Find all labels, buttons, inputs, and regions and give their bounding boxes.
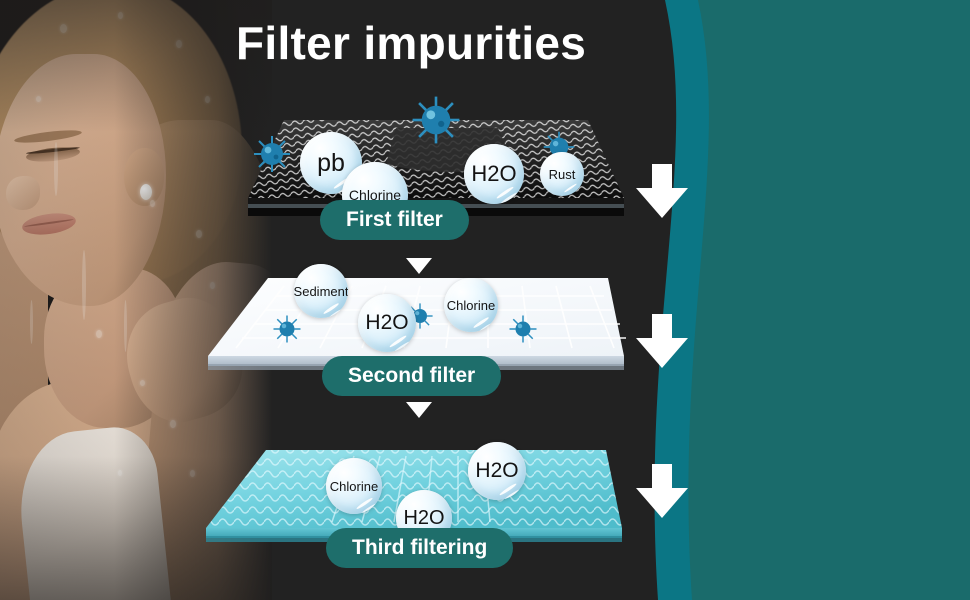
stage-badge-first[interactable]: First filter — [320, 200, 469, 240]
impurity-label: Rust — [549, 167, 576, 182]
filter-stage-third: Chlorine H2O H2O Third filtering — [204, 444, 624, 574]
germ-icon — [272, 314, 302, 344]
bubble-highlight-icon — [473, 316, 490, 328]
impurity-label: Chlorine — [447, 298, 495, 313]
germ-icon — [508, 314, 538, 344]
impurity-bubble: H2O — [358, 294, 416, 352]
impurity-bubble: Chlorine — [444, 278, 498, 332]
bubble-highlight-icon — [496, 186, 515, 200]
germ-icon — [252, 134, 292, 174]
impurity-bubble: H2O — [464, 144, 524, 204]
arrow-down-icon — [634, 464, 690, 518]
impurity-label: Sediment — [294, 284, 348, 299]
arrow-down-icon — [634, 164, 690, 218]
impurity-label: H2O — [475, 459, 518, 483]
impurity-label: pb — [317, 149, 345, 178]
bubble-highlight-icon — [389, 335, 407, 348]
filter-stage-second: Sediment H2O Chlorine Second filter — [206, 272, 626, 402]
impurity-label: H2O — [365, 311, 408, 335]
impurity-label: Chlorine — [330, 479, 378, 494]
bubble-highlight-icon — [564, 183, 578, 193]
triangle-down-icon — [406, 402, 432, 418]
infographic-canvas: Filter impurities — [0, 0, 970, 600]
stage-badge-third[interactable]: Third filtering — [326, 528, 513, 568]
stage-badge-second[interactable]: Second filter — [322, 356, 501, 396]
impurity-bubble: Chlorine — [326, 458, 382, 514]
impurity-bubble: H2O — [468, 442, 526, 500]
impurity-bubble: Rust — [540, 152, 584, 196]
bubble-highlight-icon — [499, 483, 517, 496]
arrow-down-icon — [634, 314, 690, 368]
germ-icon — [410, 94, 462, 146]
impurity-bubble: Sediment — [294, 264, 348, 318]
impurity-label: H2O — [471, 161, 516, 187]
bubble-highlight-icon — [323, 302, 340, 314]
filter-stage-first: pb Chlorine H2O Rust First filter — [246, 112, 626, 242]
impurity-label: H2O — [403, 507, 444, 530]
panel-main-fill — [688, 0, 970, 600]
page-title: Filter impurities — [236, 16, 586, 70]
bubble-highlight-icon — [356, 497, 373, 510]
impurity-label: Chlorine — [349, 187, 401, 203]
